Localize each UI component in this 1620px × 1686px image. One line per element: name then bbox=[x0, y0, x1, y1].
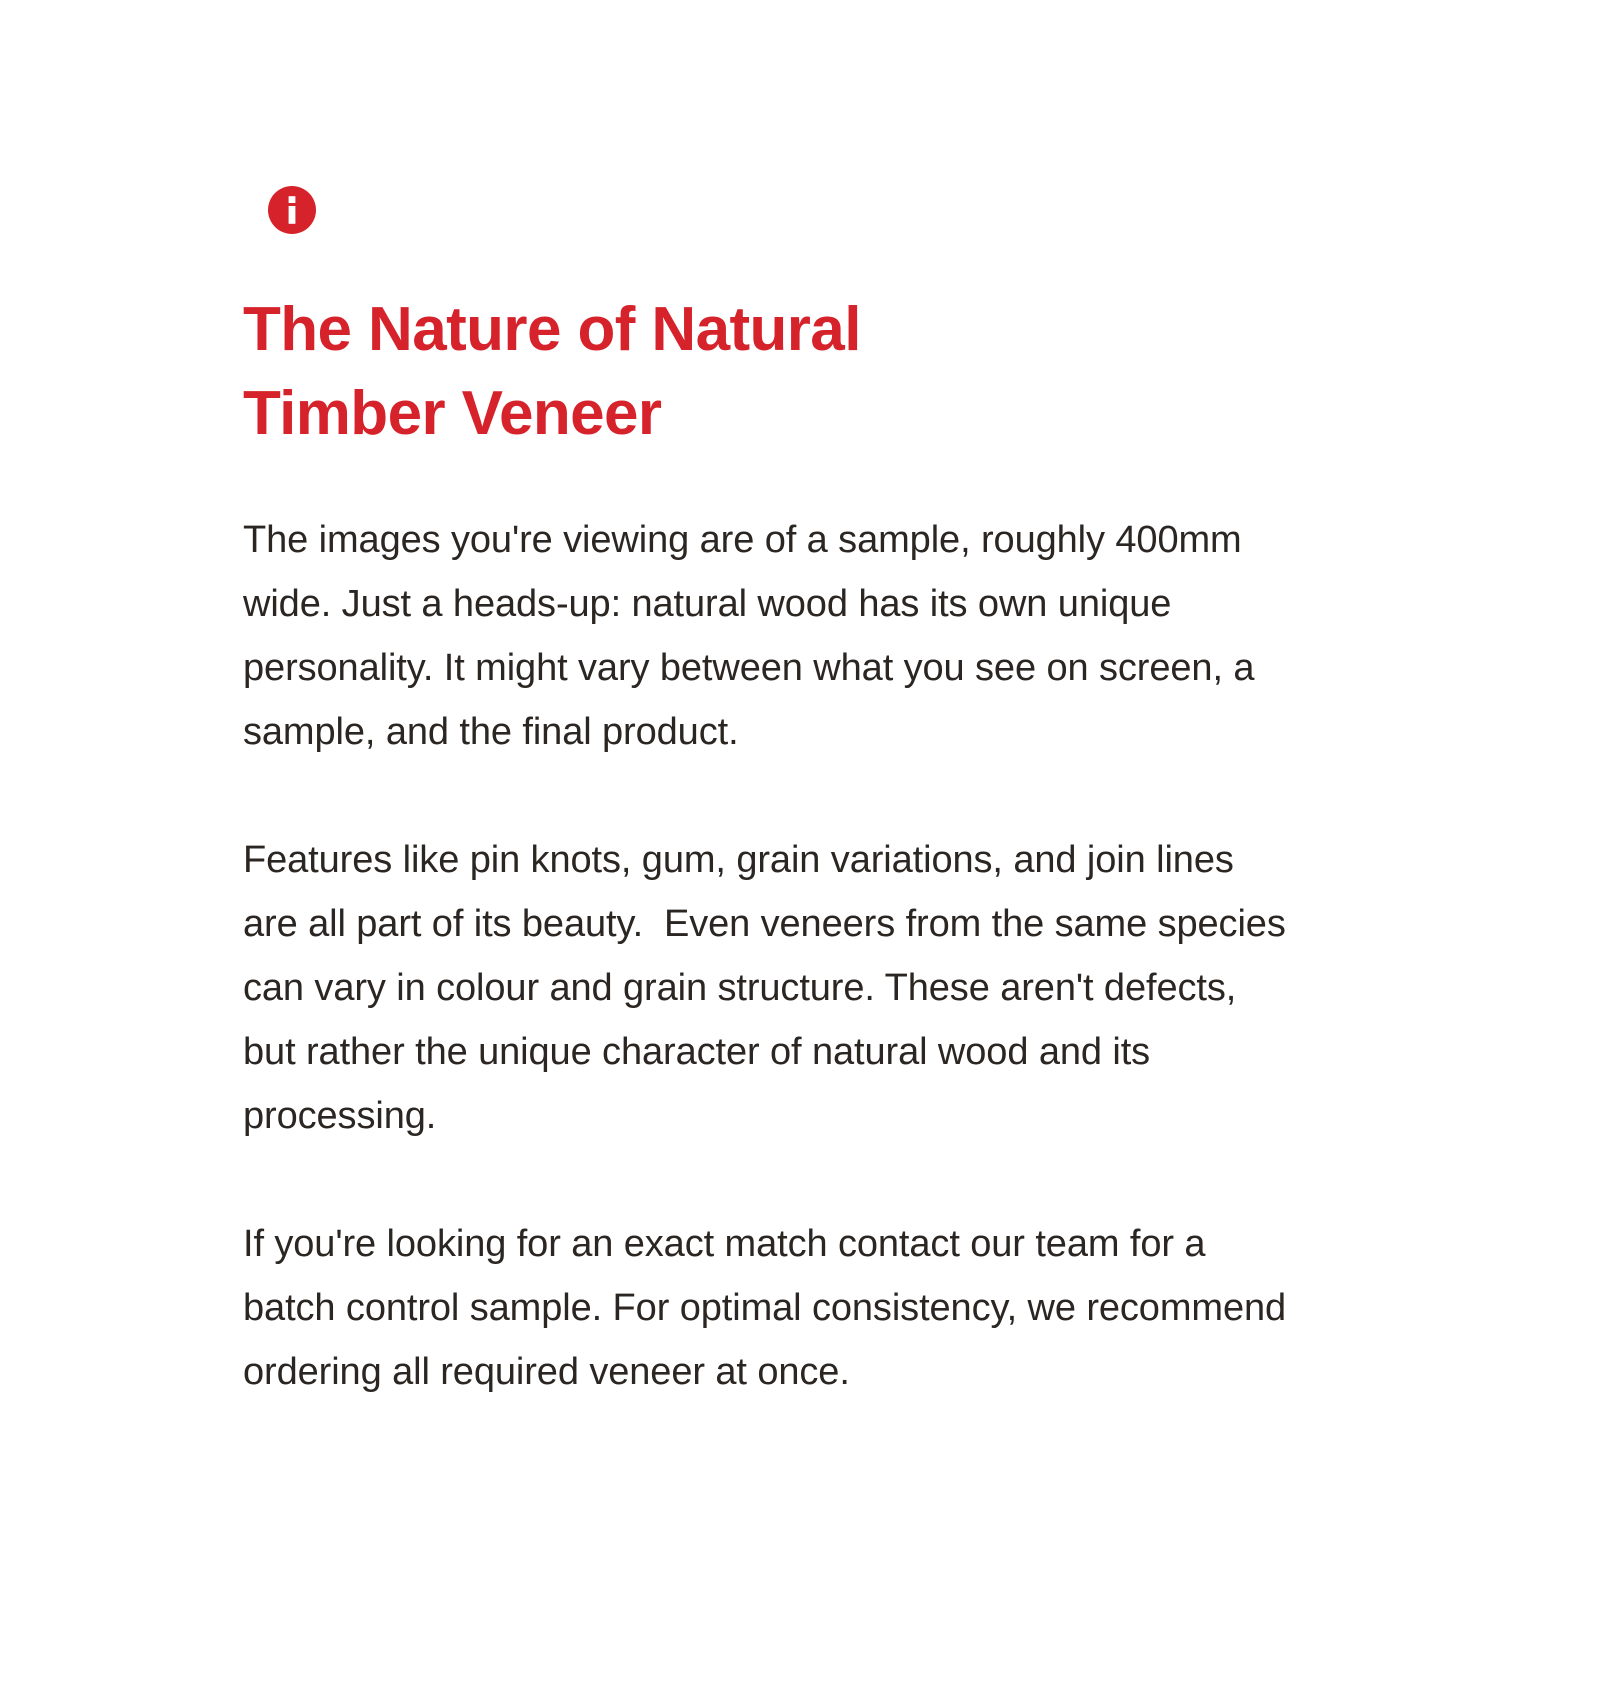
body-paragraph-1: The images you're viewing are of a sampl… bbox=[243, 508, 1291, 764]
info-icon-wrapper bbox=[268, 186, 316, 234]
info-circle-icon bbox=[268, 186, 316, 234]
info-body: The images you're viewing are of a sampl… bbox=[243, 508, 1291, 1404]
body-paragraph-2: Features like pin knots, gum, grain vari… bbox=[243, 828, 1291, 1148]
page-title: The Nature of Natural Timber Veneer bbox=[243, 288, 1143, 456]
body-paragraph-3: If you're looking for an exact match con… bbox=[243, 1212, 1291, 1404]
